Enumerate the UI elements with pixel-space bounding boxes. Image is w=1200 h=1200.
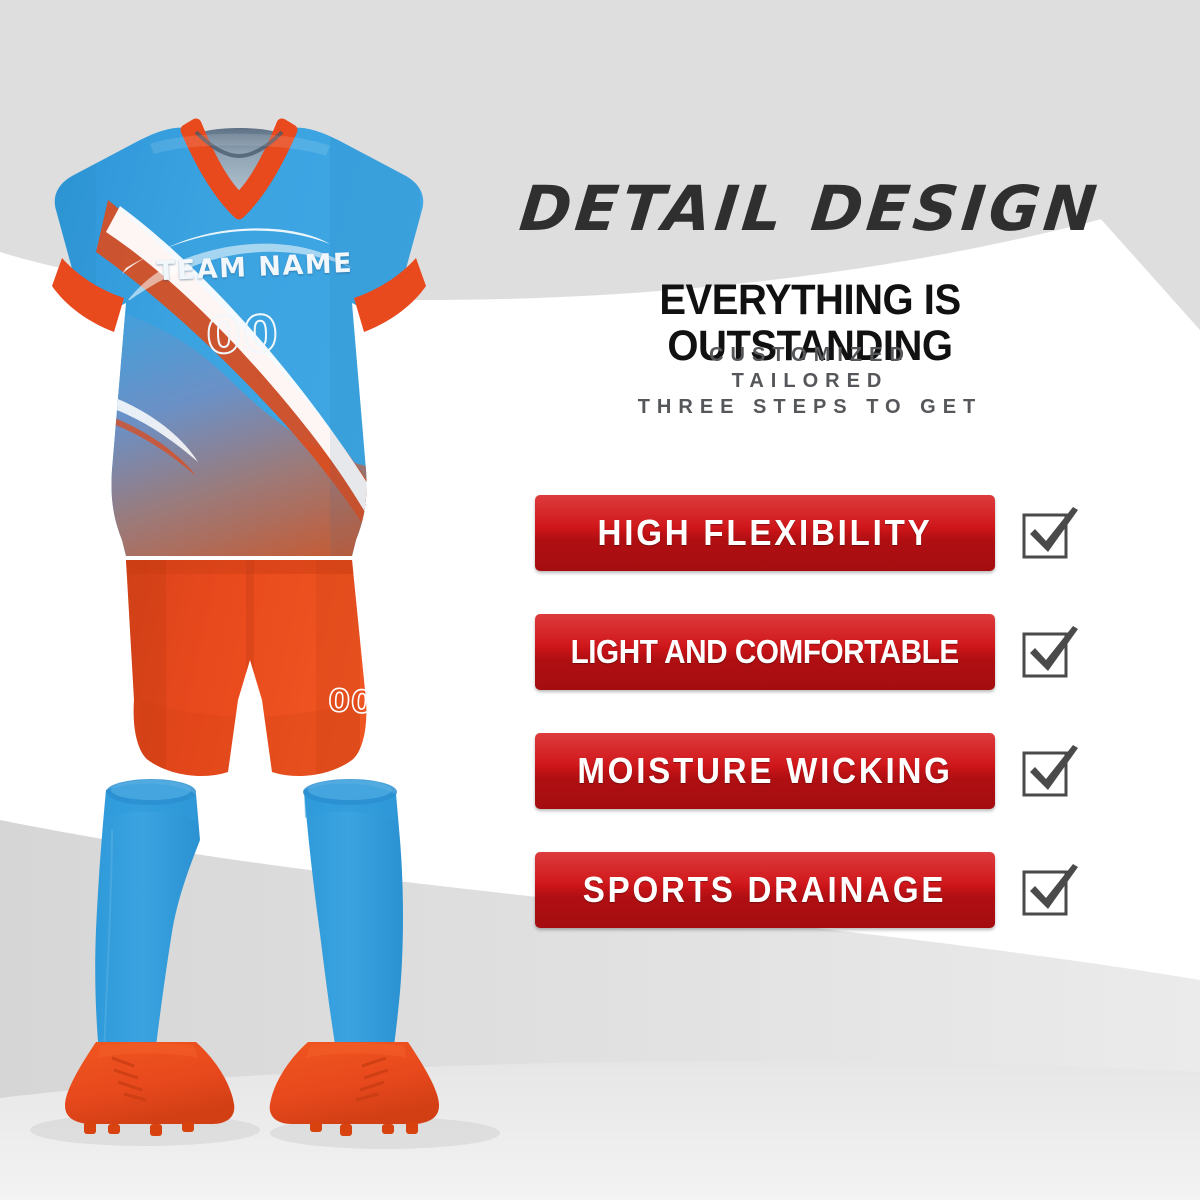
jersey [40,120,426,600]
checkbox-checked-icon [1017,620,1081,684]
feature-label: SPORTS DRAINAGE [583,869,946,911]
page-title: DETAIL DESIGN [497,178,1124,240]
checkbox-checked-icon [1017,858,1081,922]
tagline-1: CUSTOMIZED [500,342,1120,368]
feature-item: SPORTS DRAINAGE [535,852,1175,928]
shoes [65,1042,439,1136]
feature-label: MOISTURE WICKING [577,750,952,792]
tagline-list: CUSTOMIZED TAILORED THREE STEPS TO GET [500,342,1120,420]
soccer-kit-illustration: TEAM NAME 00 00 [0,0,500,1200]
feature-bar-sports-drainage: SPORTS DRAINAGE [535,852,995,928]
sock-left [95,784,200,1062]
page-title-text: DETAIL DESIGN [517,178,1103,240]
tagline-3: THREE STEPS TO GET [500,394,1120,420]
shoe-right [270,1042,439,1124]
tagline-2: TAILORED [500,368,1120,394]
feature-label: LIGHT AND COMFORTABLE [571,633,959,671]
promo-banner: TEAM NAME 00 00 DETAIL DESIGN EVERYTHING… [0,0,1200,1200]
shoe-right-studs [310,1122,418,1136]
feature-label: HIGH FLEXIBILITY [598,512,933,554]
kit-svg [0,0,500,1200]
feature-list: HIGH FLEXIBILITY LIGHT AND COMFORTABLE [535,495,1175,971]
socks [95,779,403,1062]
content-column: DETAIL DESIGN EVERYTHING IS OUTSTANDING … [500,0,1200,1200]
checkbox-checked-icon [1017,739,1081,803]
sock-right [304,784,403,1062]
shoe-left-studs [84,1122,194,1136]
shorts [126,556,366,800]
shoe-left [65,1042,234,1124]
feature-bar-high-flexibility: HIGH FLEXIBILITY [535,495,995,571]
feature-bar-light-and-comfortable: LIGHT AND COMFORTABLE [535,614,995,690]
checkbox-checked-icon [1017,501,1081,565]
feature-item: MOISTURE WICKING [535,733,1175,809]
feature-item: HIGH FLEXIBILITY [535,495,1175,571]
feature-item: LIGHT AND COMFORTABLE [535,614,1175,690]
feature-bar-moisture-wicking: MOISTURE WICKING [535,733,995,809]
